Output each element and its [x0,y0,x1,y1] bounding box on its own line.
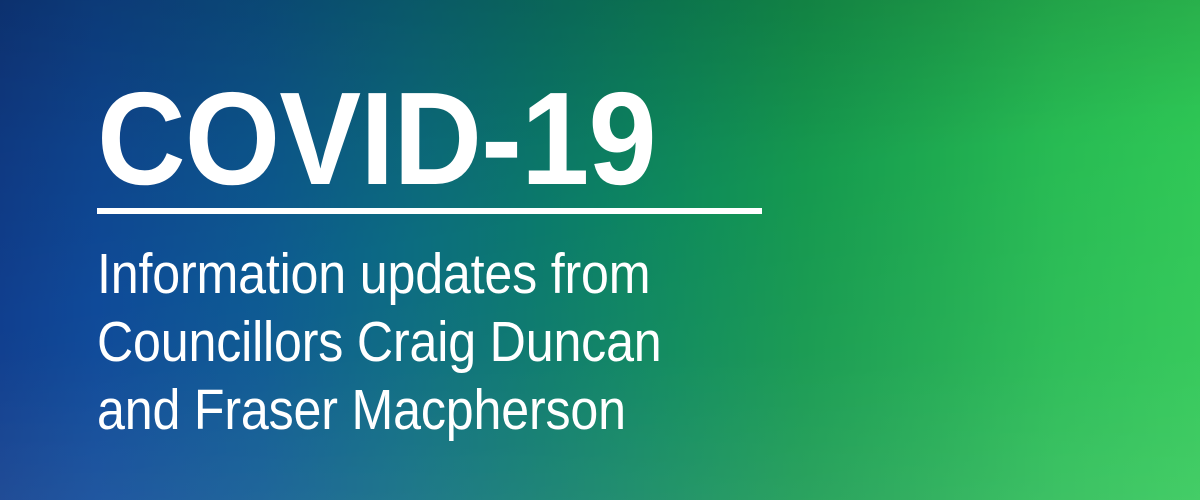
covid-19-banner: COVID-19 Information updates from Counci… [0,0,1200,500]
banner-content: COVID-19 Information updates from Counci… [97,0,1200,500]
subtitle-line-2: Councillors Craig Duncan [97,308,662,376]
subtitle-line-3: and Fraser Macpherson [97,376,662,444]
page-title: COVID-19 [97,73,656,205]
subtitle-line-1: Information updates from [97,240,662,308]
banner-subtitle: Information updates from Councillors Cra… [97,240,662,444]
title-divider [97,208,762,214]
